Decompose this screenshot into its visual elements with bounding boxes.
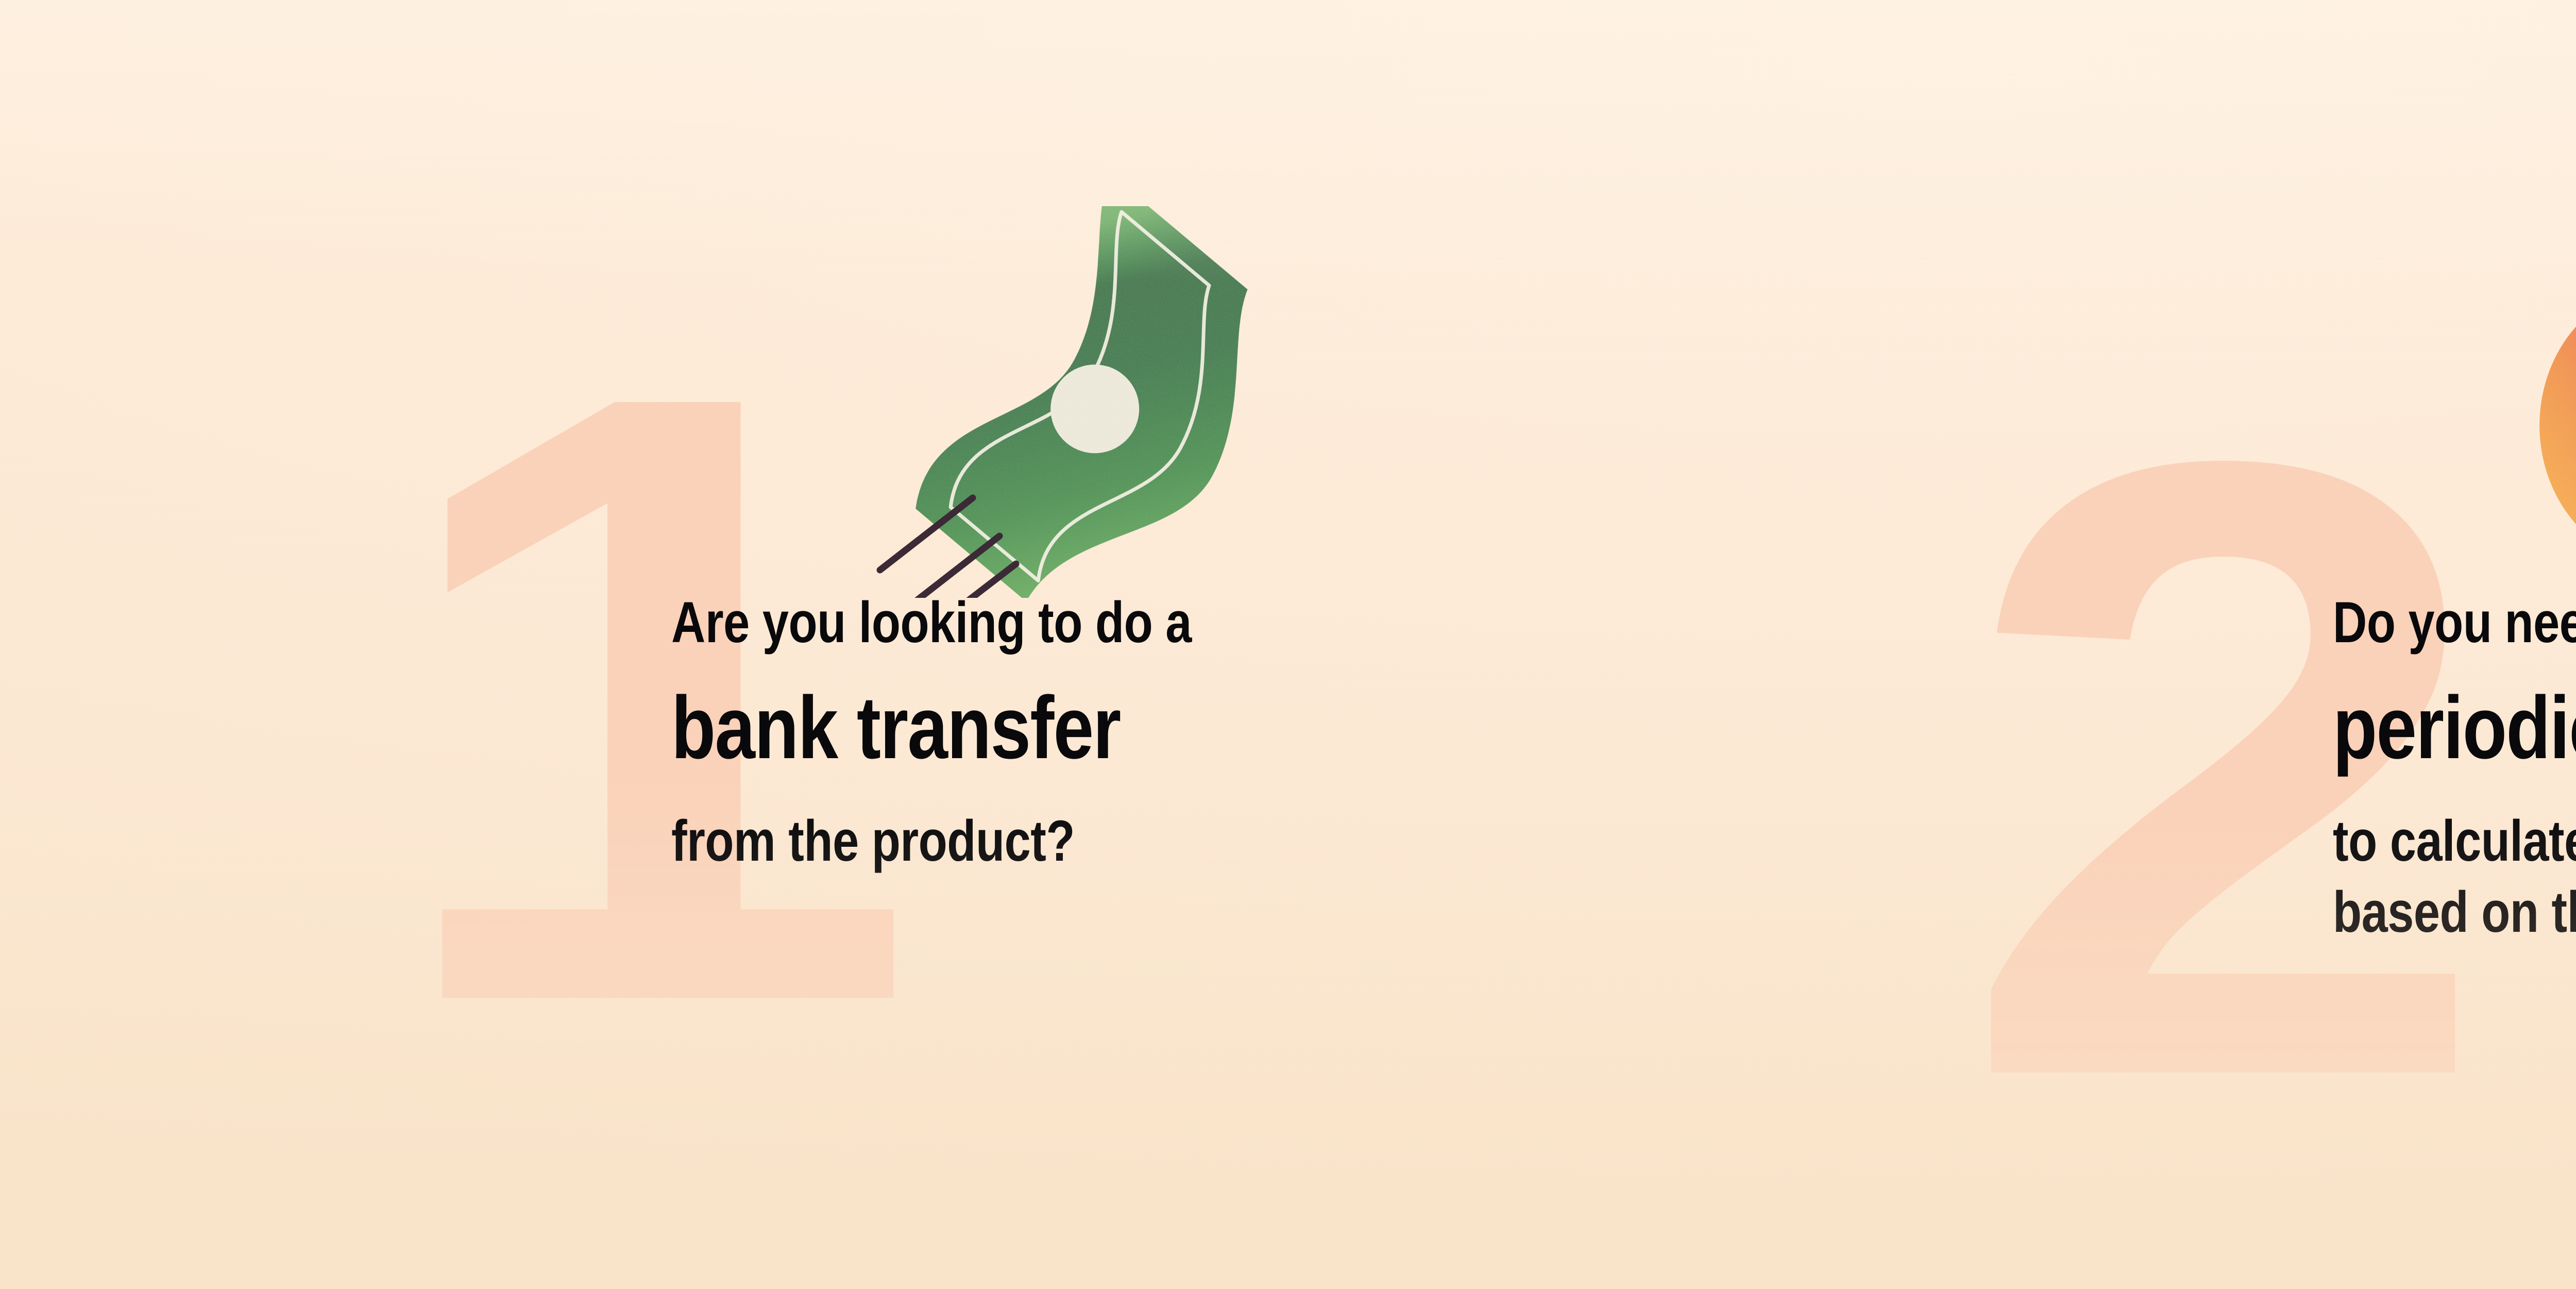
step-item-2: 2 — [1942, 0, 2576, 1289]
step-2-line-4: based on the facilities availed? — [2333, 883, 2576, 941]
step-1-line-2: bank transfer — [671, 683, 1192, 772]
step-2-line-1: Do you need a — [2333, 594, 2576, 651]
flying-banknote-icon — [835, 206, 1360, 598]
promo-banner: 1 — [0, 0, 2576, 1289]
pie-chart-and-line-graph-icon — [2504, 222, 2576, 577]
step-1-line-3: from the product? — [671, 812, 1192, 870]
step-2-line-3: to calculate the salary structure — [2333, 812, 2576, 870]
step-text-1: Are you looking to do a bank transfer fr… — [671, 594, 1306, 870]
step-2-line-2: periodic report — [2333, 683, 2576, 772]
step-item-1: 1 — [0, 0, 1942, 1289]
step-text-2: Do you need a periodic report to calcula… — [2333, 594, 2576, 941]
step-1-line-1: Are you looking to do a — [671, 594, 1192, 651]
